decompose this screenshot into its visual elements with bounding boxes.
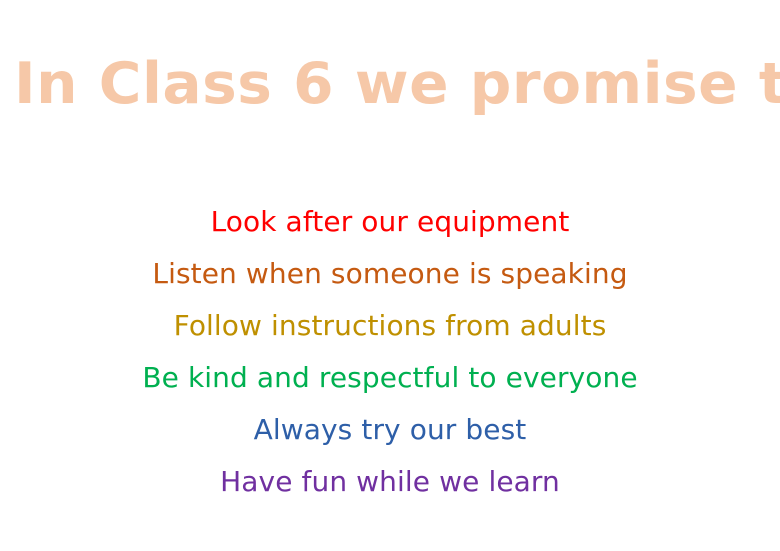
classroom-promise-slide: In Class 6 we promise to… Look after our… — [0, 0, 780, 551]
promise-item-4: Be kind and respectful to everyone — [0, 352, 780, 404]
promise-item-2: Listen when someone is speaking — [0, 248, 780, 300]
page-title: In Class 6 we promise to… — [14, 56, 780, 113]
promise-item-6: Have fun while we learn — [0, 456, 780, 508]
promise-item-3: Follow instructions from adults — [0, 300, 780, 352]
promise-list: Look after our equipment Listen when som… — [0, 196, 780, 508]
promise-item-1: Look after our equipment — [0, 196, 780, 248]
promise-item-5: Always try our best — [0, 404, 780, 456]
